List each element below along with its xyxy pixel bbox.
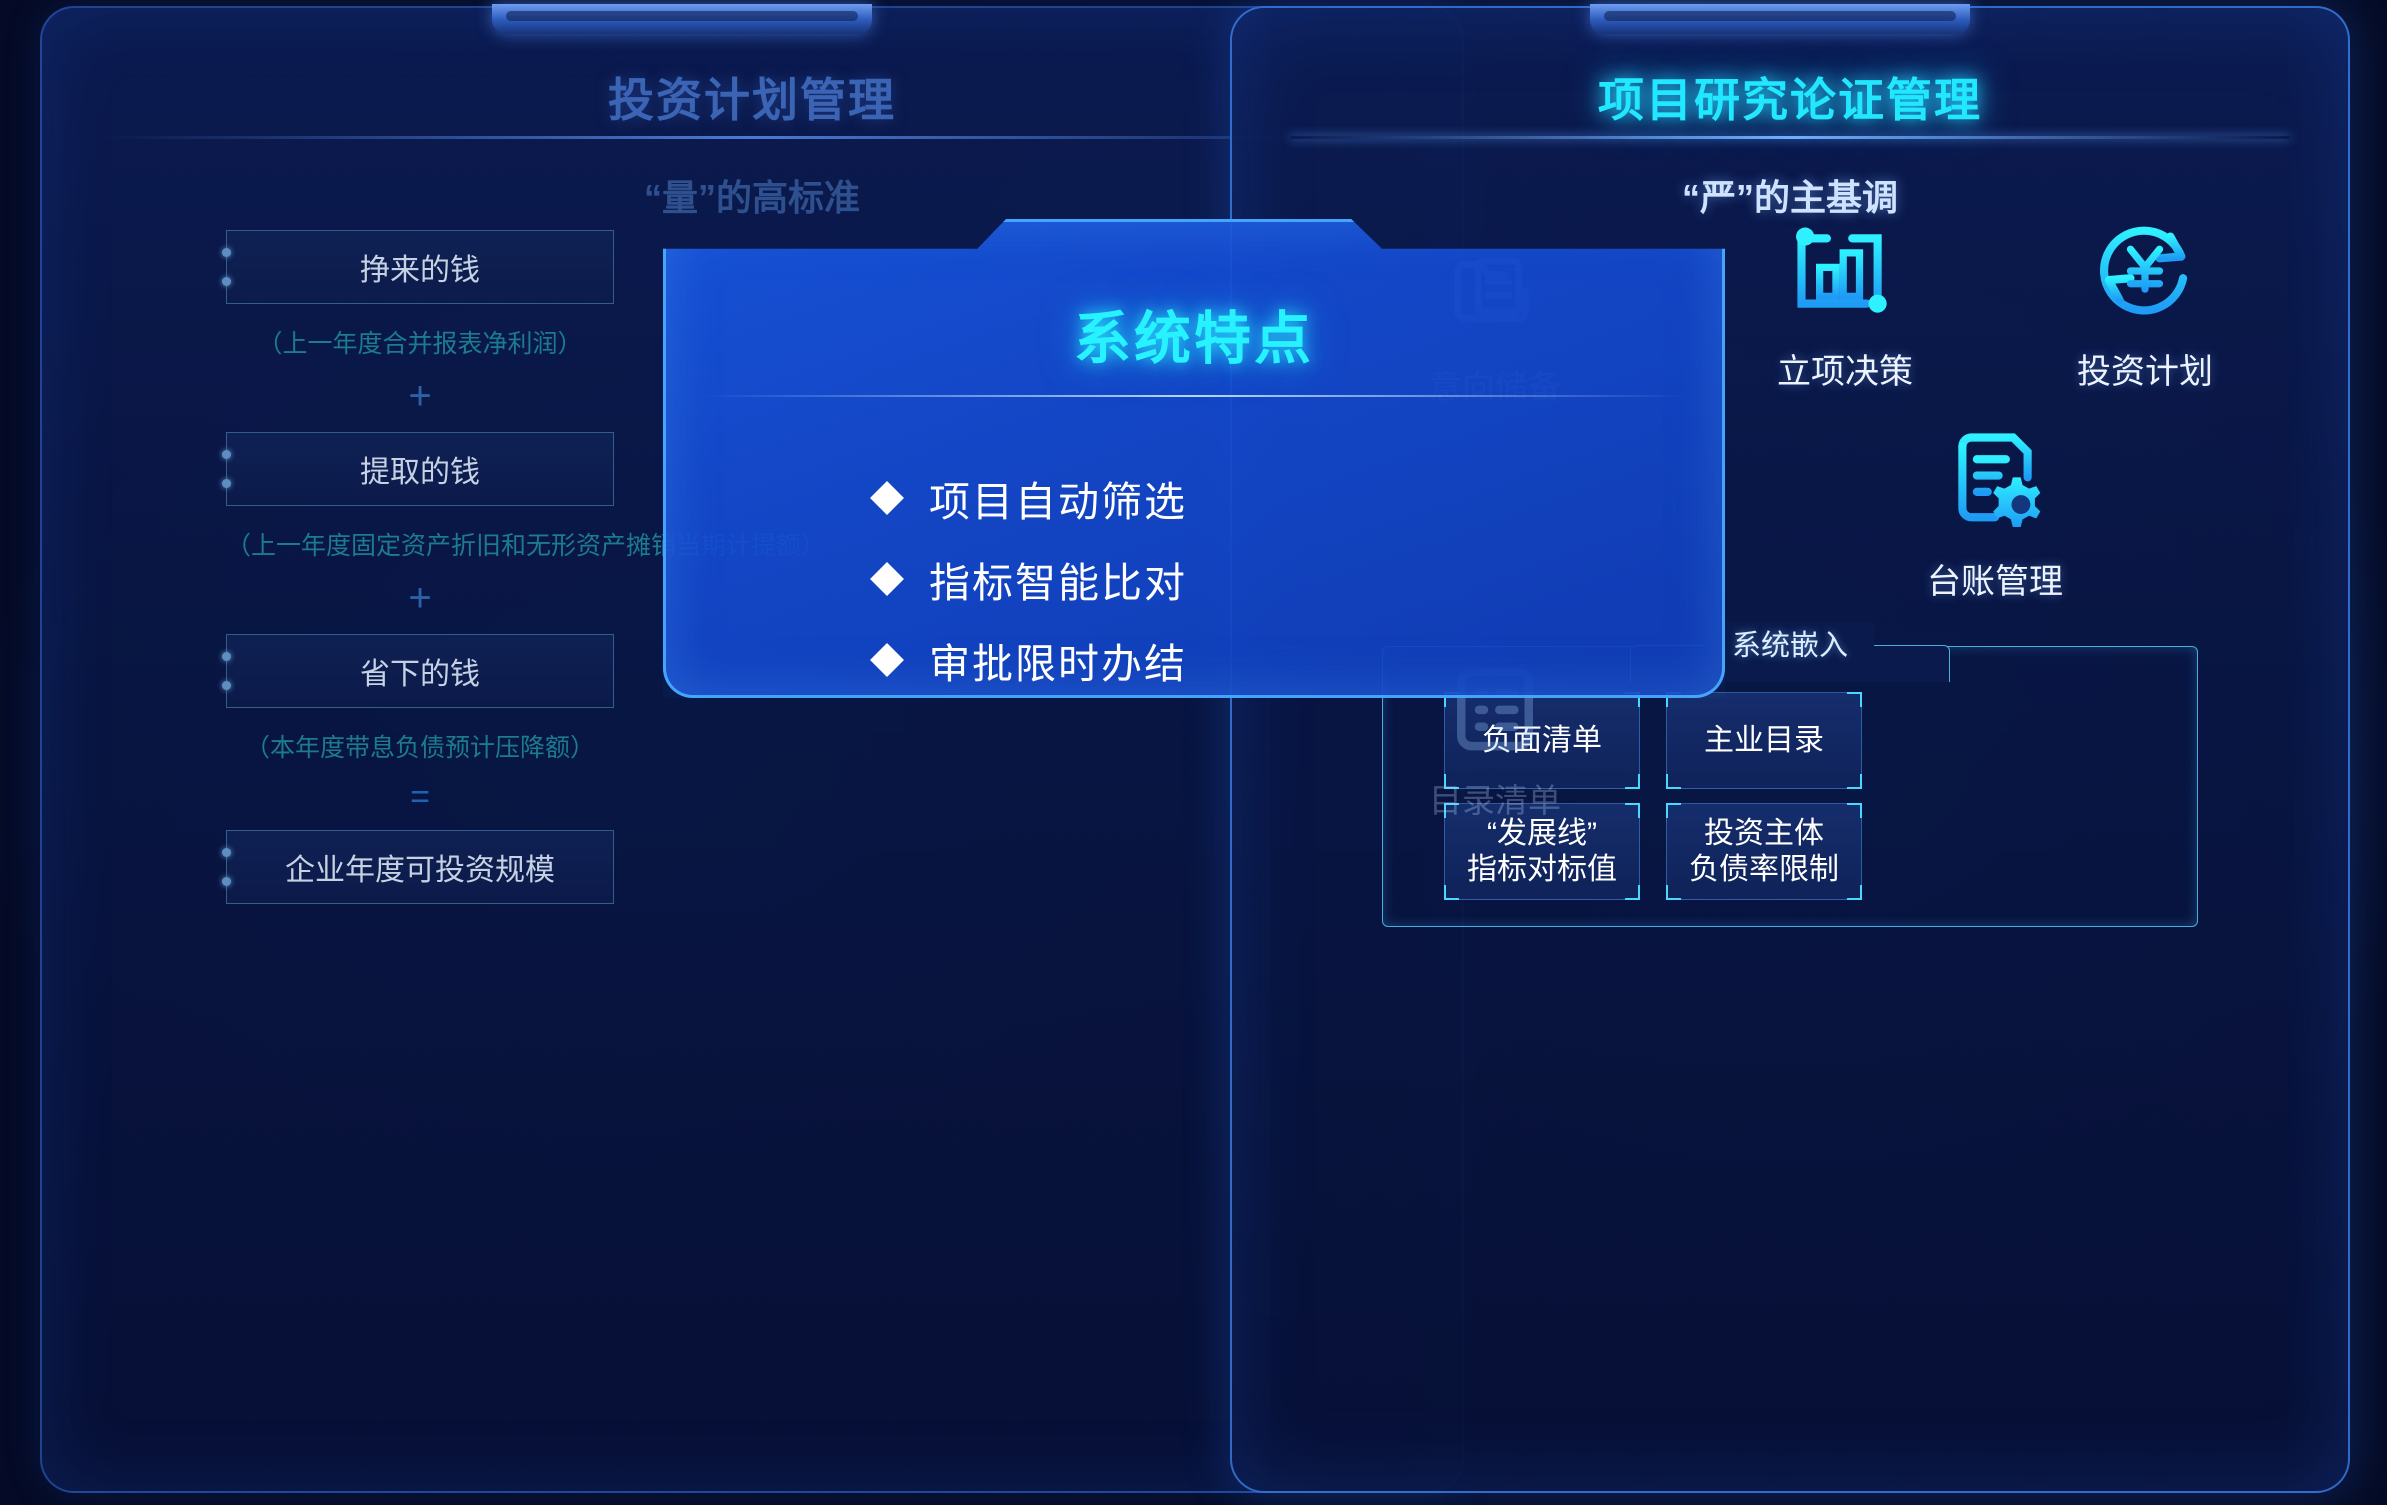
panel-left-top-notch: [492, 4, 872, 34]
investment-formula: 挣来的钱 （上一年度合并报表净利润） + 提取的钱 （上一年度固定资产折旧和无形…: [226, 230, 614, 904]
list-item-label: 项目自动筛选: [929, 468, 1187, 528]
modal-feature-list: 项目自动筛选 指标智能比对 审批限时办结: [875, 457, 1187, 700]
box-dot-icon: [222, 681, 231, 690]
formula-box-saved[interactable]: 省下的钱: [226, 634, 614, 708]
formula-box-label: 挣来的钱: [360, 245, 480, 289]
formula-box-label: 企业年度可投资规模: [285, 845, 555, 889]
corner-bracket-icon: [1666, 803, 1681, 818]
formula-box-extracted[interactable]: 提取的钱: [226, 432, 614, 506]
box-dot-icon: [222, 248, 231, 257]
list-item[interactable]: 审批限时办结: [875, 619, 1187, 700]
embed-box-main-catalog[interactable]: 主业目录: [1666, 692, 1862, 789]
corner-bracket-icon: [1847, 692, 1862, 707]
system-features-modal: 系统特点 项目自动筛选 指标智能比对 审批限时办结: [663, 219, 1725, 698]
formula-box-label: 省下的钱: [360, 649, 480, 693]
diamond-bullet-icon: [870, 562, 904, 596]
formula-operator: +: [226, 578, 614, 618]
feature-item-decision[interactable]: 立项决策: [1730, 206, 1960, 393]
modal-background: [663, 219, 1725, 698]
panel-left-divider: [100, 136, 1404, 139]
feature-item-label: 台账管理: [1880, 554, 2110, 603]
diamond-bullet-icon: [870, 481, 904, 515]
embed-box-line1: 投资主体: [1704, 817, 1824, 850]
list-item-label: 审批限时办结: [929, 630, 1187, 690]
panel-right-top-notch: [1590, 4, 1970, 34]
corner-bracket-icon: [1625, 803, 1640, 818]
formula-box-label: 提取的钱: [360, 447, 480, 491]
list-item[interactable]: 指标智能比对: [875, 538, 1187, 619]
box-dot-icon: [222, 848, 231, 857]
modal-divider: [703, 395, 1685, 397]
diamond-bullet-icon: [870, 643, 904, 677]
list-item[interactable]: 项目自动筛选: [875, 457, 1187, 538]
box-dot-icon: [222, 277, 231, 286]
formula-note: （本年度带息负债预计压降额）: [226, 728, 614, 764]
corner-bracket-icon: [1444, 885, 1459, 900]
panel-right-divider: [1290, 136, 2290, 139]
corner-bracket-icon: [1847, 885, 1862, 900]
box-dot-icon: [222, 652, 231, 661]
embed-box-line1: “发展线”: [1487, 817, 1597, 850]
box-dot-icon: [222, 450, 231, 459]
corner-bracket-icon: [1847, 803, 1862, 818]
corner-bracket-icon: [1625, 885, 1640, 900]
feature-item-label: 立项决策: [1730, 344, 1960, 393]
corner-bracket-icon: [1625, 774, 1640, 789]
document-gear-icon: [1880, 416, 2110, 546]
bar-chart-bracket-icon: [1730, 206, 1960, 336]
yen-refresh-icon: [2030, 206, 2260, 336]
formula-operator: =: [226, 780, 614, 814]
formula-note: （上一年度固定资产折旧和无形资产摊销当期计提额）: [226, 526, 614, 562]
corner-bracket-icon: [1666, 774, 1681, 789]
feature-item-plan[interactable]: 投资计划: [2030, 206, 2260, 393]
panel-right-title: 项目研究论证管理: [1230, 64, 2350, 130]
feature-item-ledger[interactable]: 台账管理: [1880, 416, 2110, 603]
formula-box-total[interactable]: 企业年度可投资规模: [226, 830, 614, 904]
system-embed-caption: 系统嵌入: [1706, 622, 1874, 664]
box-dot-icon: [222, 479, 231, 488]
embed-box-investor-debt[interactable]: 投资主体 负债率限制: [1666, 803, 1862, 900]
formula-operator: +: [226, 376, 614, 416]
feature-item-label: 目录清单: [1380, 774, 1610, 822]
formula-note: （上一年度合并报表净利润）: [226, 324, 614, 360]
corner-bracket-icon: [1666, 885, 1681, 900]
feature-item-label: 投资计划: [2030, 344, 2260, 393]
embed-box-line2: 指标对标值: [1467, 853, 1617, 886]
embed-box-line2: 负债率限制: [1689, 853, 1839, 886]
formula-box-earned[interactable]: 挣来的钱: [226, 230, 614, 304]
box-dot-icon: [222, 877, 231, 886]
list-item-label: 指标智能比对: [929, 549, 1187, 609]
embed-box-line1: 主业目录: [1704, 724, 1824, 757]
corner-bracket-icon: [1847, 774, 1862, 789]
modal-title: 系统特点: [663, 293, 1725, 375]
